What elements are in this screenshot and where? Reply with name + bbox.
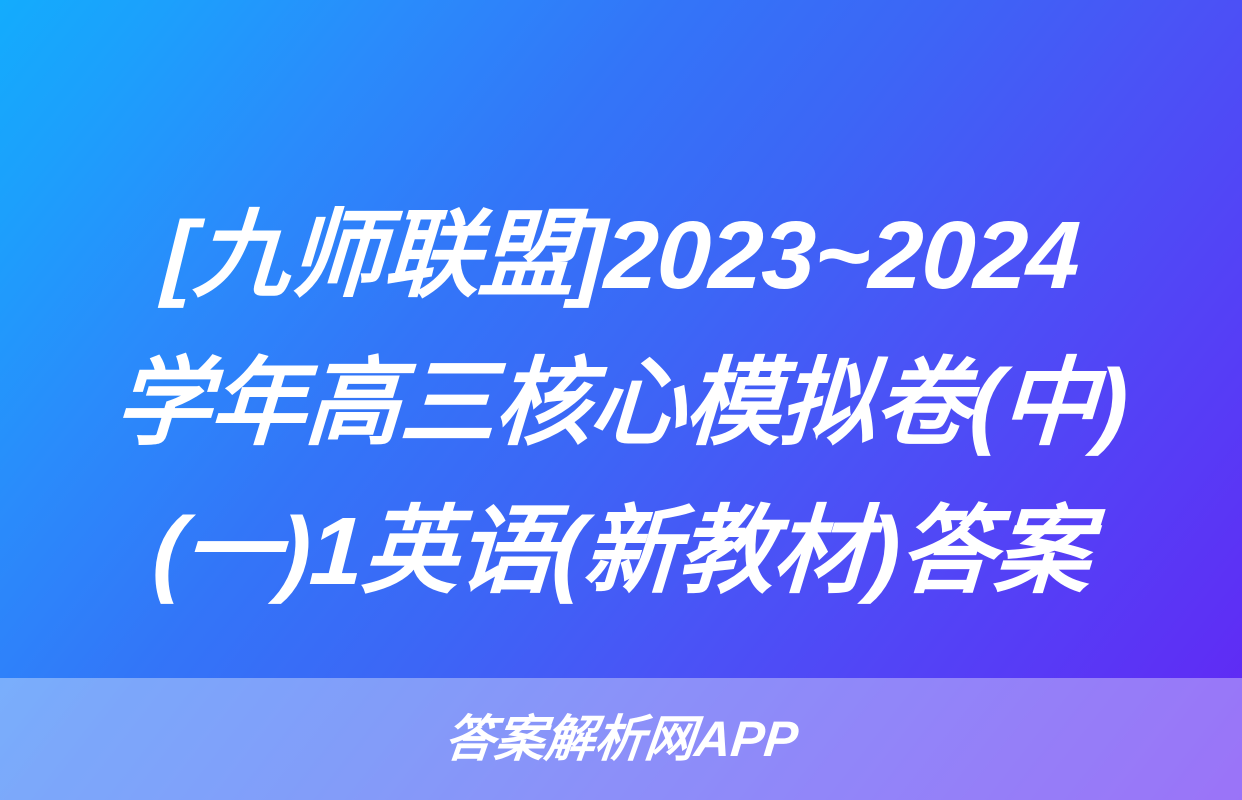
title-line-1: [九师联盟]2023~2024 <box>159 182 1083 330</box>
title-line-3: (一)1英语(新教材)答案 <box>149 478 1093 626</box>
footer-banner: 答案解析网APP <box>0 678 1242 800</box>
poster-canvas: [九师联盟]2023~2024 学年高三核心模拟卷(中) (一)1英语(新教材)… <box>0 0 1242 800</box>
title-line-2: 学年高三核心模拟卷(中) <box>111 330 1131 478</box>
app-brand-label: 答案解析网APP <box>442 711 801 767</box>
page-title: [九师联盟]2023~2024 学年高三核心模拟卷(中) (一)1英语(新教材)… <box>0 182 1242 626</box>
